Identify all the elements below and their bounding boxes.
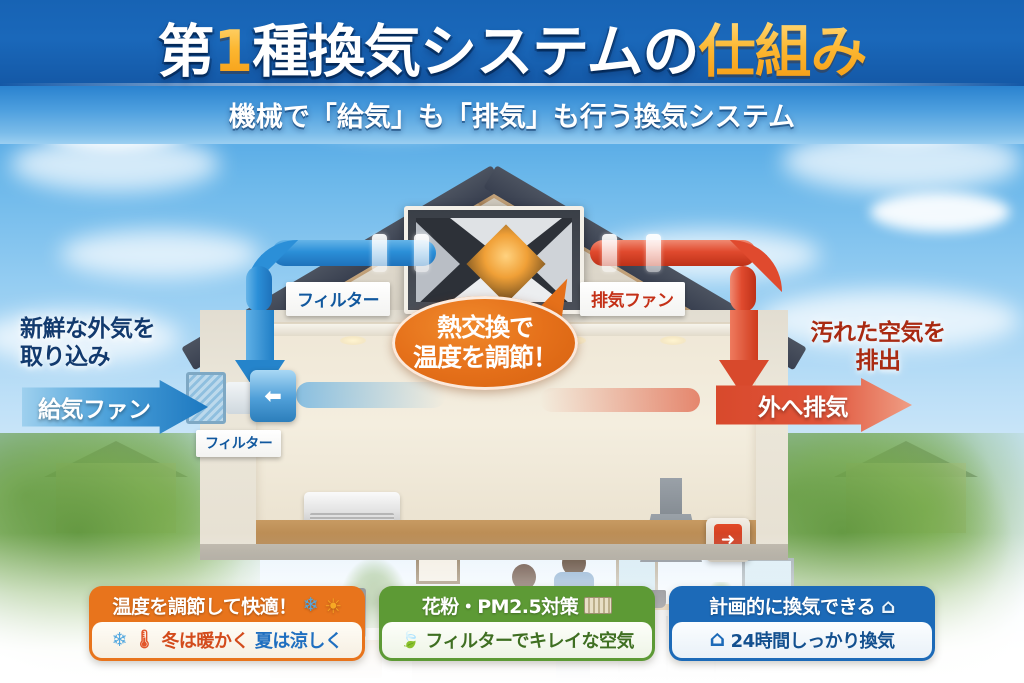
- duct-coupler: [646, 234, 661, 272]
- page-title: 第1種換気システムの仕組み: [0, 6, 1024, 88]
- left-heading-line-2: 取り込み: [20, 344, 155, 372]
- card-head: 花粉・PM2.5対策: [382, 589, 652, 622]
- card-body: ⌂ 24時間しっかり換気: [672, 622, 932, 658]
- range-hood-duct: [660, 478, 682, 518]
- card-head-label: 花粉・PM2.5対策: [422, 592, 579, 619]
- title-accent-number: 1: [214, 19, 253, 85]
- feature-cards: 温度を調節して快適！ ❄ ☀ ❄ 🌡 冬は暖かく 夏は涼しく 花粉・PM2.5対…: [0, 586, 1024, 661]
- right-heading: 汚れた空気を 排出: [788, 320, 968, 375]
- label-filter-bottom: フィルター: [196, 430, 281, 457]
- label-exhaust-fan: 排気ファン: [580, 282, 685, 316]
- feature-card-scheduled[interactable]: 計画的に換気できる ⌂ ⌂ 24時間しっかり換気: [669, 586, 935, 661]
- left-heading: 新鮮な外気を 取り込み: [20, 316, 155, 371]
- snowflake-icon: ❄: [303, 596, 318, 615]
- downlight: [340, 336, 366, 345]
- leaf-icon: 🍃: [400, 632, 419, 648]
- house-icon: ⌂: [709, 629, 724, 651]
- indoor-exhaust-flow: [540, 388, 700, 412]
- sun-icon: ☀: [324, 596, 341, 616]
- filter-icon: [584, 597, 612, 614]
- feature-card-filtration[interactable]: 花粉・PM2.5対策 🍃 フィルターでキレイな空気: [379, 586, 655, 661]
- indoor-supply-flow: [296, 382, 446, 408]
- card-body-label: フィルターでキレイな空気: [425, 627, 634, 653]
- downlight: [660, 336, 686, 345]
- supply-intake-grille: [186, 372, 226, 424]
- supply-duct-vertical: [246, 266, 272, 312]
- exhaust-air-arrow: [720, 310, 768, 398]
- card-body: 🍃 フィルターでキレイな空気: [382, 622, 652, 658]
- card-head: 計画的に換気できる ⌂: [672, 589, 932, 622]
- duct-coupler: [602, 234, 617, 272]
- card-body: ❄ 🌡 冬は暖かく 夏は涼しく: [92, 622, 362, 658]
- label-filter-top: フィルター: [286, 282, 390, 316]
- bubble-line-1: 熱交換で: [437, 313, 533, 344]
- duct-coupler: [372, 234, 387, 272]
- title-accent-word: 仕組み: [698, 19, 866, 85]
- card-body-label: 24時間しっかり換気: [731, 627, 895, 653]
- duct-coupler: [414, 234, 429, 272]
- page-subtitle: 機械で「給気」も「排気」も行う換気システム: [0, 95, 1024, 134]
- house-icon: ⌂: [881, 596, 895, 616]
- title-part-1: 第: [158, 19, 214, 85]
- bubble-line-2: 温度を調節！: [413, 343, 557, 374]
- card-body-warm: 冬は暖かく: [161, 627, 249, 653]
- feature-card-temperature[interactable]: 温度を調節して快適！ ❄ ☀ ❄ 🌡 冬は暖かく 夏は涼しく: [89, 586, 365, 661]
- card-head-label: 計画的に換気できる: [709, 592, 875, 619]
- left-heading-line-1: 新鮮な外気を: [20, 316, 155, 344]
- card-body-cool: 夏は涼しく: [255, 627, 343, 653]
- title-part-2: 種換気システムの: [252, 19, 698, 85]
- thermometer-icon: 🌡: [133, 631, 155, 649]
- right-heading-line-1: 汚れた空気を: [788, 320, 968, 348]
- supply-fan-icon: ⬅: [250, 370, 296, 422]
- card-head: 温度を調節して快適！ ❄ ☀: [92, 589, 362, 622]
- snowflake-icon: ❄: [112, 631, 127, 650]
- infographic-canvas: ➜ ⬅: [0, 0, 1024, 683]
- card-head-label: 温度を調節して快適！: [112, 592, 296, 619]
- heat-exchange-bubble: 熱交換で 温度を調節！: [392, 296, 578, 390]
- exhaust-duct-vertical: [730, 266, 756, 312]
- cloud: [870, 192, 1010, 232]
- right-heading-line-2: 排出: [788, 348, 968, 376]
